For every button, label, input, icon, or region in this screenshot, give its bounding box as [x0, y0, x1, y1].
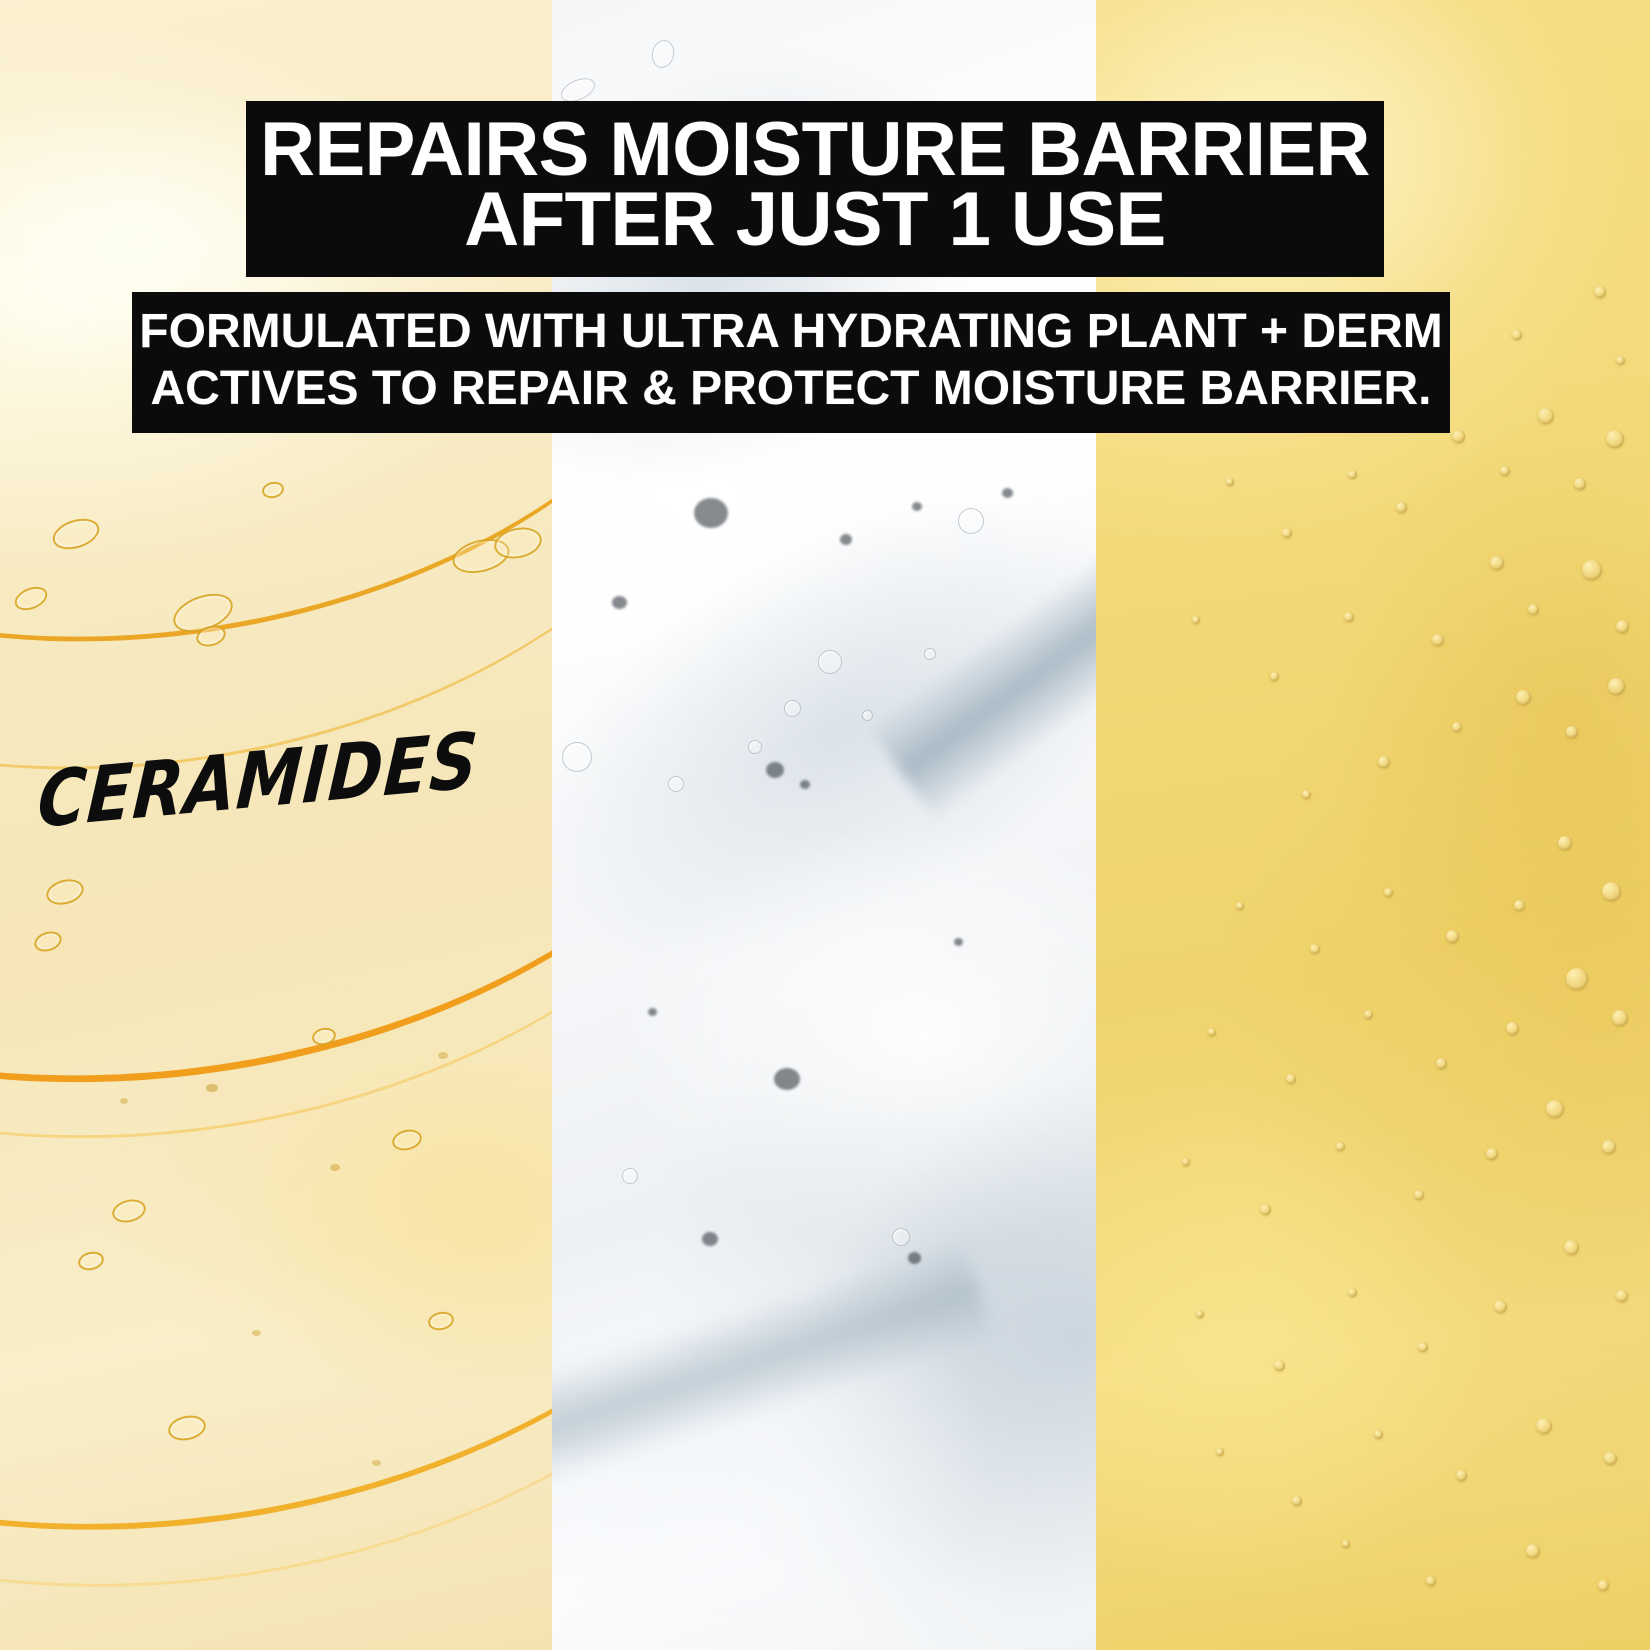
product-claim-graphic: CERAMIDES — [0, 0, 1650, 1650]
ingredient-label-ceramides: CERAMIDES — [35, 715, 481, 845]
headline-banner: REPAIRS MOISTURE BARRIER AFTER JUST 1 US… — [246, 101, 1384, 277]
headline-line-2: AFTER JUST 1 USE — [246, 185, 1384, 255]
subtitle-line-1: FORMULATED WITH ULTRA HYDRATING PLANT + … — [132, 304, 1450, 361]
subtitle-line-2: ACTIVES TO REPAIR & PROTECT MOISTURE BAR… — [132, 361, 1450, 418]
subtitle-banner: FORMULATED WITH ULTRA HYDRATING PLANT + … — [132, 292, 1450, 433]
headline-line-1: REPAIRS MOISTURE BARRIER — [246, 115, 1384, 185]
